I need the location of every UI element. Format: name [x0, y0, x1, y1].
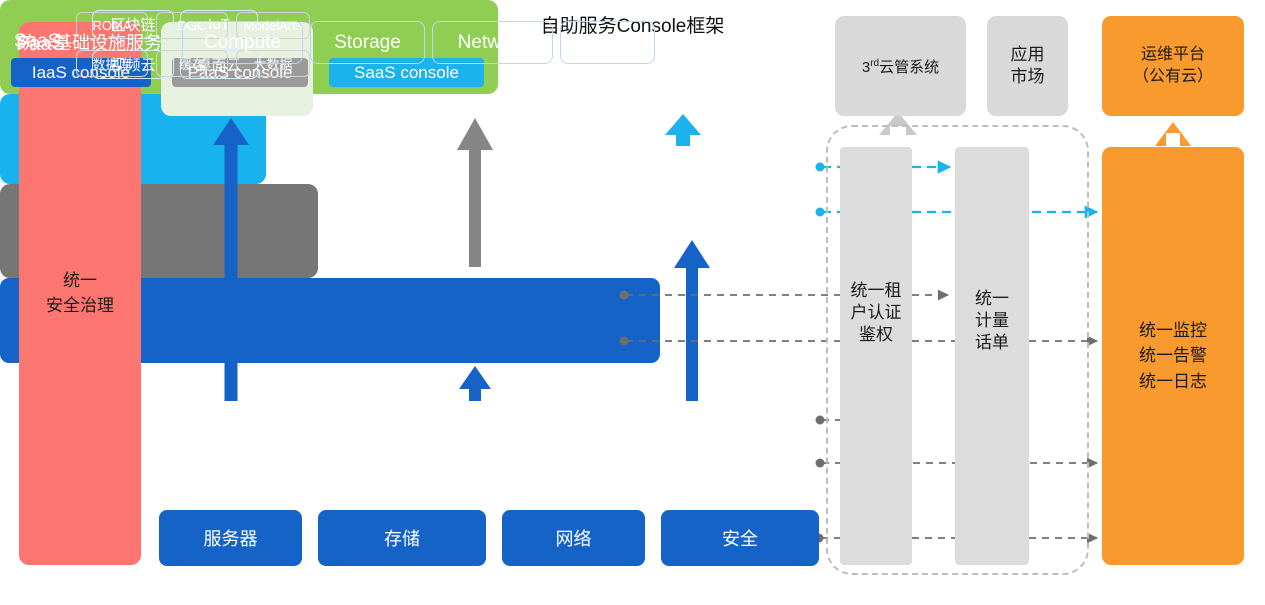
unified-auth-column[interactable]	[840, 147, 912, 565]
third-party-prefix: 3	[862, 59, 870, 76]
resource-server-label: 服务器	[204, 525, 258, 551]
unified-security-panel[interactable]: 统一 安全治理	[19, 22, 141, 565]
resource-box-security[interactable]: 安全	[661, 510, 819, 566]
arrow-ops-column-to-platform	[1155, 122, 1191, 146]
third-party-cloud-mgmt-box[interactable]: 3rd云管系统	[835, 16, 966, 116]
ops-monitoring-column[interactable]: 统一监控 统一告警 统一日志	[1102, 147, 1244, 565]
third-party-cloud-label: 3rd云管系统	[862, 56, 939, 77]
resource-box-network[interactable]: 网络	[502, 510, 645, 566]
infra-chip-network[interactable]: Network	[432, 21, 553, 64]
unified-metering-column[interactable]	[955, 147, 1029, 565]
unified-infrastructure-label: 统一基础设施服务	[18, 29, 162, 55]
resource-box-server[interactable]: 服务器	[159, 510, 302, 566]
arrow-saas-to-saas-console	[665, 114, 701, 146]
infra-chip-storage[interactable]: Storage	[310, 21, 425, 64]
arrow-paas-to-console	[457, 118, 493, 267]
ops-column-label: 统一监控 统一告警 统一日志	[1139, 318, 1207, 395]
arrow-infra-to-saas	[674, 240, 710, 401]
ops-platform-label: 运维平台 （公有云）	[1133, 44, 1213, 87]
unified-metering-label: 统一 计量 话单	[952, 288, 1032, 353]
third-party-suffix: 云管系统	[879, 59, 939, 76]
resource-security-label: 安全	[722, 525, 758, 551]
infra-chip-cce[interactable]: CCE	[560, 21, 655, 64]
arrow-infra-to-paas	[459, 366, 491, 401]
ops-platform-box[interactable]: 运维平台 （公有云）	[1102, 16, 1244, 116]
resource-storage-label: 存储	[384, 525, 420, 551]
app-market-label: 应用 市场	[1011, 44, 1045, 88]
architecture-diagram: 统一 安全治理 API网关 自助服务Console框架 IaaS console…	[0, 0, 1265, 605]
resource-network-label: 网络	[556, 525, 592, 551]
infra-chip-compute[interactable]: Compute	[182, 21, 303, 64]
third-party-superscript: rd	[870, 58, 879, 69]
app-market-box[interactable]: 应用 市场	[987, 16, 1068, 116]
resource-box-storage[interactable]: 存储	[318, 510, 486, 566]
unified-auth-label: 统一租 户认证 鉴权	[838, 280, 914, 345]
unified-security-label: 统一 安全治理	[46, 269, 114, 318]
